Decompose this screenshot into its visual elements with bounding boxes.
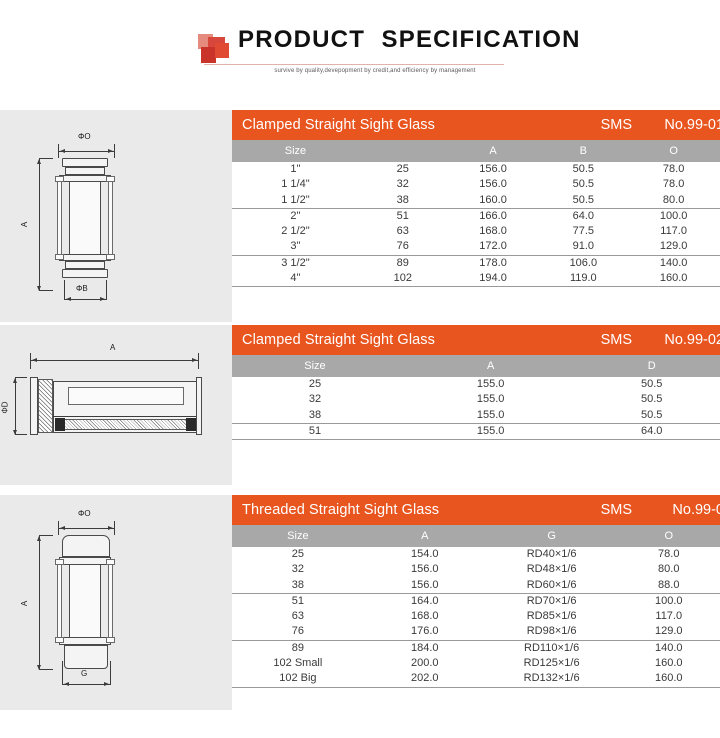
cell-size: 4" [232,271,359,287]
cell-size: 32 [232,392,398,407]
cell-o: 80.0 [618,562,720,577]
page-title-product: PRODUCT [238,26,365,53]
spec-area-2: Clamped Straight Sight Glass SMS No.99-0… [232,325,720,469]
cell-g: RD60×1/6 [486,578,618,594]
left-gasket-hatch [38,379,53,433]
cell-size: 2 1/2" [232,224,359,239]
cell-a: 178.0 [447,255,540,271]
table-1-number: No.99-01 [664,117,720,133]
cell-dn: 102 [359,271,447,287]
top-ferrule [65,167,105,175]
tie-rod-nut-bottom-left [55,637,64,643]
left-flange-end [30,377,38,435]
cell-size: 76 [232,624,364,640]
col-head-a: A [447,140,540,162]
cell-a: 160.0 [447,193,540,209]
cell-dn: 51 [359,208,447,224]
cell-o: 140.0 [627,255,720,271]
drawing-panel-2: A ΦD [0,325,232,485]
cell-size: 32 [232,562,364,577]
clamped-straight-sight-glass-section-view: A ΦD [0,325,232,485]
cell-a: 155.0 [398,377,583,392]
sight-glass-tube [69,565,101,637]
cell-o: 100.0 [627,208,720,224]
dim-ext-d-bottom [15,434,27,435]
col-head-d: D [583,355,720,377]
top-threaded-union-nut [62,535,110,557]
table-1-name: Clamped Straight Sight Glass [242,117,435,133]
cell-a: 184.0 [364,640,486,656]
table-header-3: Threaded Straight Sight Glass SMS No.99-… [232,495,720,525]
dim-ext-g-right [110,661,111,685]
cell-dn: 32 [359,177,447,192]
brand-tagline: survive by quality,devepopment by credit… [240,68,510,74]
cell-g: RD110×1/6 [486,640,618,656]
col-head-b: B [539,140,627,162]
dim-arrow-a3-top [37,536,41,541]
title-underline [204,64,504,65]
threaded-straight-sight-glass-vertical-view: ΦO A G [0,495,232,710]
drawing-panel-1: ΦO A [0,110,232,322]
dim-label-b: ΦB [76,284,88,293]
cell-a: 154.0 [364,547,486,562]
cell-a: 168.0 [447,224,540,239]
cell-size: 1 1/2" [232,193,359,209]
cell-b: 119.0 [539,271,627,287]
dim-arrow-o-right [108,149,113,153]
bottom-clamp-ring [59,254,111,261]
cell-g: RD48×1/6 [486,562,618,577]
col-head-a: A [364,525,486,547]
tie-rod-nut-top-left [55,559,64,565]
col-head-size: Size [232,140,359,162]
section-threaded-straight-99-0: ΦO A G [0,495,720,735]
cell-size: 51 [232,423,398,439]
dim-line-d [15,377,16,435]
cell-size: 25 [232,547,364,562]
cell-o: 160.0 [627,271,720,287]
dim-ext-a3-bottom [39,669,53,670]
cell-g: RD125×1/6 [486,656,618,671]
table-2-name: Clamped Straight Sight Glass [242,332,435,348]
dim-line-a3 [39,535,40,670]
section-clamped-straight-99-01: ΦO A [0,110,720,325]
section-clamped-straight-99-02: A ΦD Clamped Straight Sight Glass SMS No… [0,325,720,495]
table-2-standard: SMS [601,332,632,348]
cell-o: 78.0 [627,162,720,177]
dim-arrow-a2-right [192,358,197,362]
dim-label-o: ΦO [78,132,91,141]
cell-size: 1 1/4" [232,177,359,192]
centerline-section [53,416,199,417]
col-head-blank [359,140,447,162]
cell-b: 91.0 [539,239,627,255]
table-row: 89 184.0 RD110×1/6 140.0 [232,640,720,656]
cell-g: RD98×1/6 [486,624,618,640]
cell-dn: 76 [359,239,447,255]
cell-a: 200.0 [364,656,486,671]
cell-a: 156.0 [364,562,486,577]
spec-table-1: Size A B O 1" 25 156.0 50.5 78.0 1 1/4" [232,140,720,287]
table-header-1: Clamped Straight Sight Glass SMS No.99-0… [232,110,720,140]
cell-o: 88.0 [618,578,720,594]
cell-size: 3" [232,239,359,255]
table-row: 25 155.0 50.5 [232,377,720,392]
cell-o: 140.0 [618,640,720,656]
dim-arrow-b-left [66,297,71,301]
cell-o: 160.0 [618,671,720,687]
dim-arrow-a-top [37,159,41,164]
dim-line-a2 [30,360,199,361]
cell-d: 50.5 [583,377,720,392]
dim-label-a3: A [20,601,29,606]
bottom-ferrule [65,261,105,269]
cell-g: RD40×1/6 [486,547,618,562]
table-row: 1" 25 156.0 50.5 78.0 [232,162,720,177]
table-row: 3" 76 172.0 91.0 129.0 [232,239,720,255]
col-head-size: Size [232,525,364,547]
bottom-clamp-flange [62,269,108,278]
cell-d: 50.5 [583,392,720,407]
table-header-2: Clamped Straight Sight Glass SMS No.99-0… [232,325,720,355]
spec-area-1: Clamped Straight Sight Glass SMS No.99-0… [232,110,720,300]
col-head-a: A [398,355,583,377]
logo-square-deep [201,47,216,63]
col-head-o: O [627,140,720,162]
cell-b: 106.0 [539,255,627,271]
cell-d: 50.5 [583,408,720,424]
logo-square-accent [215,43,229,58]
cell-a: 194.0 [447,271,540,287]
cell-a: 166.0 [447,208,540,224]
cell-dn: 89 [359,255,447,271]
cell-o: 78.0 [618,547,720,562]
dim-ext-g-left [62,661,63,685]
page-title-specification: SPECIFICATION [382,26,581,53]
brand-logo-block: PRODUCT SPECIFICATION survive by quality… [198,26,518,82]
cell-a: 172.0 [447,239,540,255]
seal-left [55,418,65,431]
dim-ext-a3-top [39,535,53,536]
seal-right [186,418,196,431]
cell-g: RD132×1/6 [486,671,618,687]
glass-window-inner [68,387,184,405]
table-row: 2" 51 166.0 64.0 100.0 [232,208,720,224]
dim-arrow-a2-left [32,358,37,362]
tie-rod-nut-top-left [55,176,64,182]
table-2-head-row: Size A D [232,355,720,377]
table-row: 102 Big 202.0 RD132×1/6 160.0 [232,671,720,687]
dim-line-a [39,158,40,291]
cell-b: 50.5 [539,193,627,209]
cell-a: 156.0 [364,578,486,594]
page-title: PRODUCT SPECIFICATION [238,26,581,54]
cell-a: 156.0 [447,162,540,177]
table-2-number: No.99-02 [664,332,720,348]
cell-size: 51 [232,593,364,609]
dim-line-o [58,151,115,152]
dim-label-d: ΦD [1,401,10,413]
cell-o: 78.0 [627,177,720,192]
cell-b: 77.5 [539,224,627,239]
spec-table-2: Size A D 25 155.0 50.5 32 155.0 50.5 38 [232,355,720,440]
dim-arrow-o-left [60,149,65,153]
drawing-panel-3: ΦO A G [0,495,232,710]
dim-ext-b-right [106,280,107,300]
table-row: 51 155.0 64.0 [232,423,720,439]
table-3-name: Threaded Straight Sight Glass [242,502,439,518]
dim-label-a2: A [110,343,115,352]
table-1-head-row: Size A B O [232,140,720,162]
bottom-ring [59,637,111,645]
dim-arrow-b-right [100,297,105,301]
tie-rod-right [108,563,113,639]
cell-a: 155.0 [398,408,583,424]
cell-o: 160.0 [618,656,720,671]
cell-d: 64.0 [583,423,720,439]
spec-area-3: Threaded Straight Sight Glass SMS No.99-… [232,495,720,700]
top-clamp-ring [59,175,111,182]
cell-o: 129.0 [618,624,720,640]
cell-size: 25 [232,377,398,392]
page-header: PRODUCT SPECIFICATION survive by quality… [0,0,720,110]
dim-arrow-g-right [104,682,109,686]
cell-a: 155.0 [398,423,583,439]
cell-o: 80.0 [627,193,720,209]
tie-rod-right [108,180,113,256]
bottom-threaded-union-nut [64,645,108,669]
cell-o: 100.0 [618,593,720,609]
tie-rod-nut-top-right [106,176,115,182]
cell-a: 155.0 [398,392,583,407]
cell-b: 64.0 [539,208,627,224]
table-row: 51 164.0 RD70×1/6 100.0 [232,593,720,609]
cell-o: 117.0 [618,609,720,624]
table-row: 102 Small 200.0 RD125×1/6 160.0 [232,656,720,671]
tie-rod-nut-bottom-left [55,254,64,260]
dim-arrow-o3-right [108,526,113,530]
dim-ext-a2-left [30,353,31,369]
cell-size: 3 1/2" [232,255,359,271]
table-row: 4" 102 194.0 119.0 160.0 [232,271,720,287]
table-row: 3 1/2" 89 178.0 106.0 140.0 [232,255,720,271]
dim-line-o3 [58,528,115,529]
dim-arrow-d-top [13,378,17,383]
spec-table-3: Size A G O 25 154.0 RD40×1/6 78.0 32 156… [232,525,720,688]
cell-size: 89 [232,640,364,656]
tie-rod-left [57,563,62,639]
tie-rod-left [57,180,62,256]
cell-o: 129.0 [627,239,720,255]
dim-label-g: G [81,669,87,678]
table-row: 1 1/4" 32 156.0 50.5 78.0 [232,177,720,192]
cell-size: 102 Big [232,671,364,687]
col-head-o: O [618,525,720,547]
dim-arrow-o3-left [60,526,65,530]
dim-ext-a-top [39,158,53,159]
tie-rod-nut-bottom-right [106,637,115,643]
overlapping-squares-logo-icon [198,34,232,64]
cell-dn: 63 [359,224,447,239]
cell-size: 102 Small [232,656,364,671]
table-row: 38 156.0 RD60×1/6 88.0 [232,578,720,594]
table-row: 32 156.0 RD48×1/6 80.0 [232,562,720,577]
lower-wall-hatch [60,419,192,430]
cell-a: 164.0 [364,593,486,609]
table-row: 1 1/2" 38 160.0 50.5 80.0 [232,193,720,209]
dim-ext-a2-right [198,353,199,369]
table-row: 38 155.0 50.5 [232,408,720,424]
dim-label-a: A [20,222,29,227]
cell-o: 117.0 [627,224,720,239]
sight-glass-tube [69,182,101,254]
table-3-standard: SMS [601,502,632,518]
cell-dn: 25 [359,162,447,177]
cell-size: 63 [232,609,364,624]
table-row: 63 168.0 RD85×1/6 117.0 [232,609,720,624]
table-row: 76 176.0 RD98×1/6 129.0 [232,624,720,640]
cell-a: 202.0 [364,671,486,687]
cell-a: 156.0 [447,177,540,192]
dim-ext-b-left [64,280,65,300]
cell-size: 38 [232,408,398,424]
cell-a: 176.0 [364,624,486,640]
table-3-head-row: Size A G O [232,525,720,547]
dim-ext-d-top [15,377,27,378]
clamped-straight-sight-glass-vertical-view: ΦO A [0,110,232,322]
top-ring [59,557,111,565]
right-flange-end [196,377,202,435]
cell-a: 168.0 [364,609,486,624]
cell-b: 50.5 [539,162,627,177]
col-head-size: Size [232,355,398,377]
top-clamp-flange [62,158,108,167]
cell-dn: 38 [359,193,447,209]
cell-g: RD85×1/6 [486,609,618,624]
cell-size: 2" [232,208,359,224]
table-1-standard: SMS [601,117,632,133]
table-3-number: No.99-0 [672,502,720,518]
tie-rod-nut-top-right [106,559,115,565]
cell-size: 1" [232,162,359,177]
tie-rod-nut-bottom-right [106,254,115,260]
col-head-g: G [486,525,618,547]
dim-ext-a-bottom [39,290,53,291]
dim-arrow-g-left [64,682,69,686]
table-row: 32 155.0 50.5 [232,392,720,407]
cell-b: 50.5 [539,177,627,192]
table-row: 2 1/2" 63 168.0 77.5 117.0 [232,224,720,239]
table-row: 25 154.0 RD40×1/6 78.0 [232,547,720,562]
cell-g: RD70×1/6 [486,593,618,609]
dim-label-o3: ΦO [78,509,91,518]
cell-size: 38 [232,578,364,594]
